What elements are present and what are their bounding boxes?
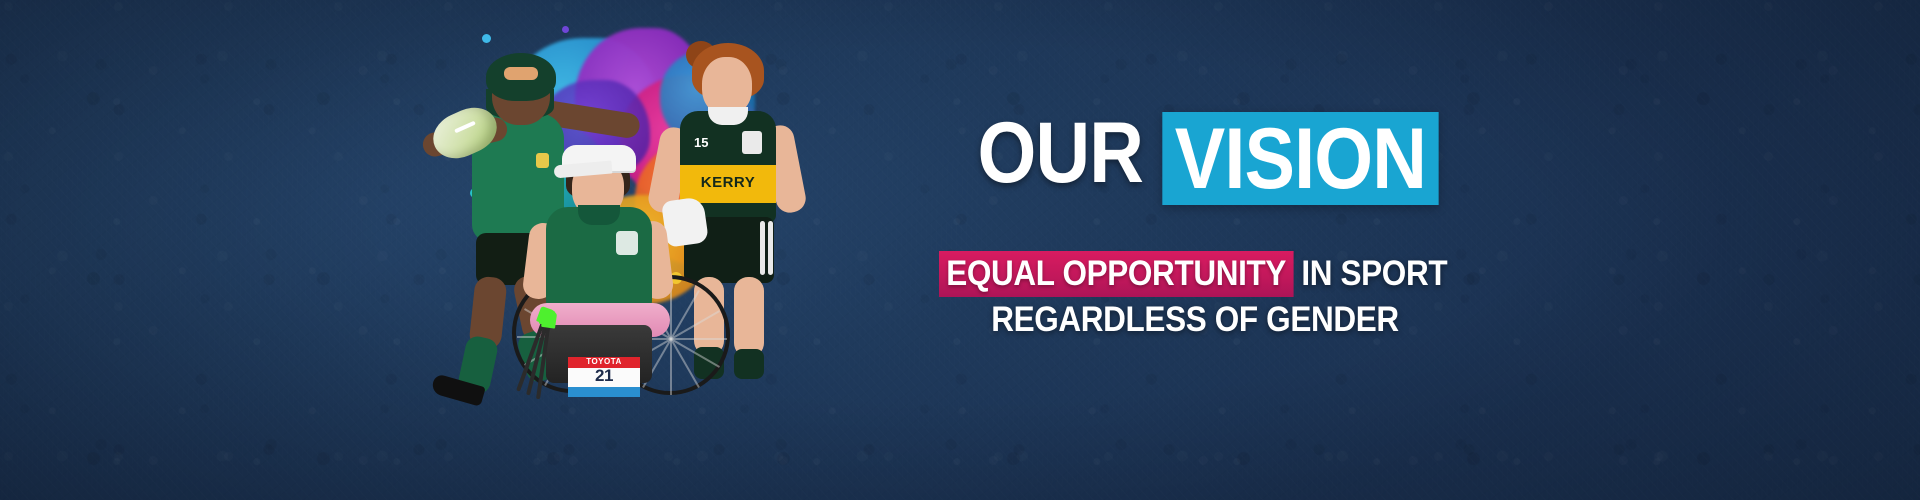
headline-word-vision: VISION bbox=[1162, 112, 1438, 205]
subheading-line-1: EQUAL OPPORTUNITY IN SPORT bbox=[939, 251, 1434, 297]
banner-subheading: EQUAL OPPORTUNITY IN SPORT REGARDLESS OF… bbox=[930, 251, 1434, 338]
vision-banner: 15 KERRY bbox=[0, 0, 1920, 500]
subheading-regardless-of-gender: REGARDLESS OF GENDER bbox=[991, 301, 1399, 338]
subheading-in-sport: IN SPORT bbox=[1301, 255, 1447, 292]
athlete-collage: 15 KERRY bbox=[400, 0, 820, 500]
headline-word-our: OUR bbox=[978, 112, 1144, 195]
archer-bib-number: 21 bbox=[568, 366, 640, 386]
banner-copy: OUR VISION EQUAL OPPORTUNITY IN SPORT RE… bbox=[930, 112, 1490, 338]
page-title: OUR VISION bbox=[930, 112, 1423, 205]
subheading-highlight-equal-opportunity: EQUAL OPPORTUNITY bbox=[939, 251, 1293, 297]
athlete-wheelchair-archer: TOYOTA 21 bbox=[510, 135, 725, 385]
subheading-line-2: REGARDLESS OF GENDER bbox=[939, 301, 1434, 338]
